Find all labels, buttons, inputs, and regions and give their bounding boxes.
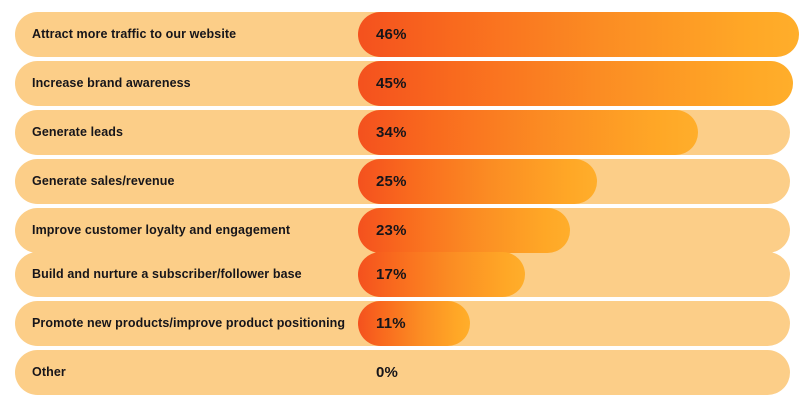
bar-row: Generate leads 34% xyxy=(15,110,790,155)
bar-category-label: Attract more traffic to our website xyxy=(32,12,236,57)
bar-category-label: Increase brand awareness xyxy=(32,61,191,106)
bar-category-label: Improve customer loyalty and engagement xyxy=(32,208,290,253)
bar-row: Generate sales/revenue 25% xyxy=(15,159,790,204)
bar-value-label: 23% xyxy=(376,208,407,253)
bar-row: Other 0% xyxy=(15,350,790,395)
bar-fill xyxy=(358,12,799,57)
bar-category-label: Generate leads xyxy=(32,110,123,155)
bar-row: Build and nurture a subscriber/follower … xyxy=(15,252,790,297)
bar-category-label: Other xyxy=(32,350,66,395)
bar-value-label: 46% xyxy=(376,12,407,57)
bar-category-label: Build and nurture a subscriber/follower … xyxy=(32,252,302,297)
bar-value-label: 25% xyxy=(376,159,407,204)
bar-row: Promote new products/improve product pos… xyxy=(15,301,790,346)
bar-fill xyxy=(358,301,470,346)
bar-value-label: 11% xyxy=(376,301,406,346)
bar-value-label: 34% xyxy=(376,110,407,155)
bar-row: Increase brand awareness 45% xyxy=(15,61,790,106)
bar-value-label: 0% xyxy=(376,350,398,395)
horizontal-bar-chart: Attract more traffic to our website 46% … xyxy=(0,0,805,405)
bar-row: Improve customer loyalty and engagement … xyxy=(15,208,790,253)
bar-fill xyxy=(358,61,793,106)
bar-category-label: Promote new products/improve product pos… xyxy=(32,301,345,346)
bar-fill xyxy=(358,110,698,155)
bar-value-label: 45% xyxy=(376,61,407,106)
bar-row: Attract more traffic to our website 46% xyxy=(15,12,790,57)
bar-value-label: 17% xyxy=(376,252,407,297)
bar-category-label: Generate sales/revenue xyxy=(32,159,175,204)
